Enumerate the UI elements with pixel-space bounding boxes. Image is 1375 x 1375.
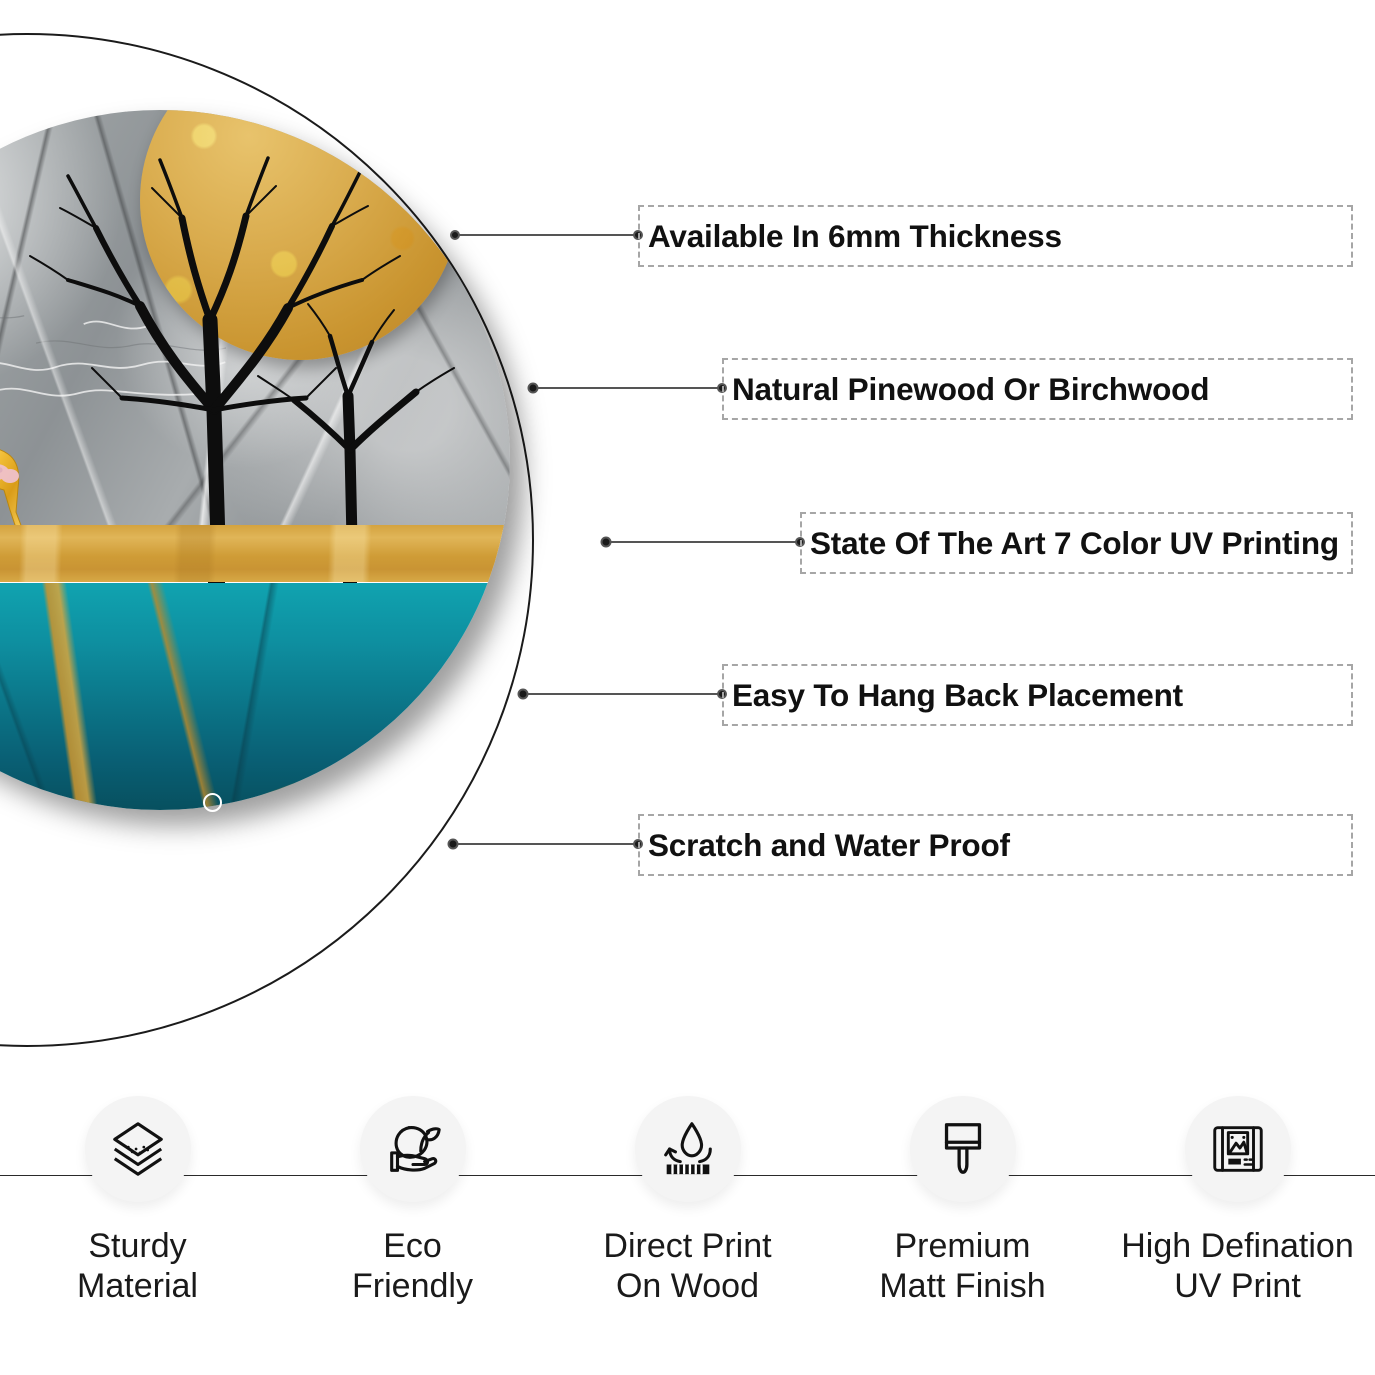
feature-label-thickness: Available In 6mm Thickness (640, 218, 1062, 255)
eco-hand-leaf-icon (382, 1118, 444, 1180)
feature-box-hanging: Easy To Hang Back Placement (722, 664, 1353, 726)
benefits-strip: Sturdy Material Eco Friendly (0, 1096, 1375, 1356)
feature-label-uv-printing: State Of The Art 7 Color UV Printing (802, 525, 1339, 562)
benefit-icon-bubble (360, 1096, 466, 1202)
artwork-inner (0, 110, 510, 810)
benefit-label-premium-matt-finish: Premium Matt Finish (879, 1226, 1045, 1306)
benefit-label-direct-print-on-wood: Direct Print On Wood (603, 1226, 771, 1306)
benefit-icon-bubble (910, 1096, 1016, 1202)
benefit-eco-friendly: Eco Friendly (275, 1096, 550, 1356)
feature-box-scratch-water-proof: Scratch and Water Proof (638, 814, 1353, 876)
benefit-premium-matt-finish: Premium Matt Finish (825, 1096, 1100, 1356)
benefit-direct-print-on-wood: Direct Print On Wood (550, 1096, 825, 1356)
water-drop-wood-icon (657, 1118, 719, 1180)
golden-deer-figurines (0, 378, 58, 538)
cursor-marker (203, 793, 222, 812)
layers-icon (107, 1118, 169, 1180)
benefit-label-high-defination-uv-print: High Defination UV Print (1121, 1226, 1353, 1306)
feature-box-uv-printing: State Of The Art 7 Color UV Printing (800, 512, 1353, 574)
feature-label-hanging: Easy To Hang Back Placement (724, 677, 1183, 714)
feature-box-thickness: Available In 6mm Thickness (638, 205, 1353, 267)
feature-box-wood-type: Natural Pinewood Or Birchwood (722, 358, 1353, 420)
benefit-icon-bubble (635, 1096, 741, 1202)
benefit-sturdy-material: Sturdy Material (0, 1096, 275, 1356)
product-artwork-circle (0, 110, 510, 810)
benefit-icon-bubble (1185, 1096, 1291, 1202)
benefit-high-defination-uv-print: High Defination UV Print (1100, 1096, 1375, 1356)
infographic-canvas: Available In 6mm Thickness Natural Pinew… (0, 0, 1375, 1375)
teal-marble-base (0, 583, 510, 811)
paint-brush-icon (932, 1118, 994, 1180)
gold-platform-band (0, 525, 510, 582)
hd-picture-icon (1207, 1118, 1269, 1180)
benefit-label-sturdy-material: Sturdy Material (77, 1226, 198, 1306)
benefit-icon-bubble (85, 1096, 191, 1202)
benefit-label-eco-friendly: Eco Friendly (352, 1226, 473, 1306)
feature-label-wood-type: Natural Pinewood Or Birchwood (724, 371, 1209, 408)
feature-label-scratch-water-proof: Scratch and Water Proof (640, 827, 1010, 864)
